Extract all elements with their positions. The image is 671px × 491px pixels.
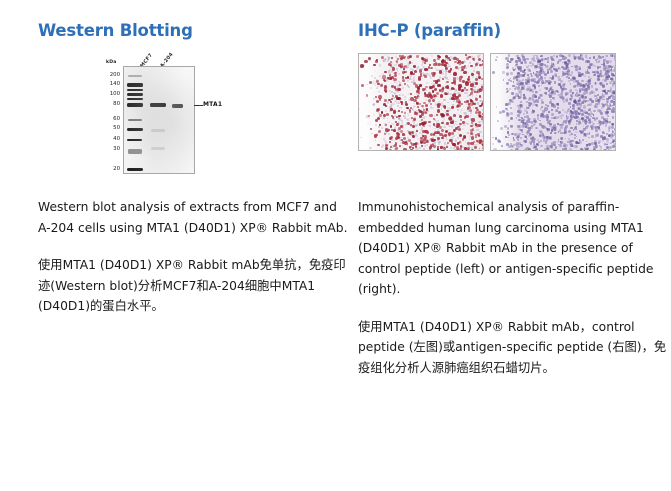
ihc-nucleus xyxy=(449,59,451,61)
ihc-nucleus xyxy=(612,116,615,119)
ihc-nucleus xyxy=(449,65,451,67)
ihc-nucleus xyxy=(453,124,455,126)
ihc-nucleus xyxy=(432,99,435,102)
ihc-nucleus xyxy=(531,121,534,124)
ihc-nucleus xyxy=(609,60,612,63)
ihc-nucleus xyxy=(482,147,484,149)
ladder-band xyxy=(127,89,143,91)
ihc-nucleus xyxy=(511,133,513,135)
ihc-nucleus xyxy=(501,145,503,147)
ihc-nucleus xyxy=(605,92,608,95)
ihc-nucleus xyxy=(586,57,588,59)
ihc-nucleus xyxy=(392,67,395,70)
ihc-nucleus xyxy=(401,111,403,113)
ihc-nucleus xyxy=(425,94,428,97)
ihc-nucleus xyxy=(375,124,377,126)
ihc-nucleus xyxy=(400,125,403,128)
mta1-leader-line xyxy=(194,105,203,106)
ihc-nucleus xyxy=(527,82,530,85)
ihc-nucleus xyxy=(370,128,372,130)
ihc-nucleus xyxy=(467,142,470,145)
ihc-nucleus xyxy=(441,108,443,110)
ihc-nucleus xyxy=(566,66,569,69)
ihc-nucleus xyxy=(482,88,484,91)
ihc-nucleus xyxy=(510,80,512,82)
ihc-nucleus xyxy=(585,148,588,151)
ihc-nucleus xyxy=(566,76,568,78)
ihc-nucleus xyxy=(376,88,377,89)
ihc-nucleus xyxy=(407,119,409,121)
ihc-nucleus xyxy=(458,128,461,131)
ihc-nucleus xyxy=(457,142,459,144)
ihc-nucleus xyxy=(376,109,379,112)
ihc-nucleus xyxy=(571,96,574,99)
ihc-nucleus xyxy=(393,129,396,132)
ihc-nucleus xyxy=(548,82,551,85)
ihc-nucleus xyxy=(561,137,563,139)
ihc-nucleus xyxy=(438,56,441,59)
ihc-nucleus xyxy=(456,58,459,61)
ihc-nucleus xyxy=(451,97,454,100)
ihc-nucleus xyxy=(394,72,397,75)
ihc-nucleus xyxy=(544,87,546,89)
ihc-nucleus xyxy=(453,72,457,76)
ihc-nucleus xyxy=(564,111,566,113)
ihc-nucleus xyxy=(416,55,419,58)
ihc-nucleus xyxy=(615,149,616,151)
ihc-nucleus xyxy=(591,113,593,115)
ihc-nucleus xyxy=(557,76,560,79)
ihc-nucleus xyxy=(541,58,544,61)
ihc-nucleus xyxy=(591,65,593,67)
ihc-nucleus xyxy=(505,103,508,106)
ihc-nucleus xyxy=(569,134,571,136)
ihc-nucleus xyxy=(369,81,372,84)
ihc-nucleus xyxy=(568,130,571,133)
ihc-nucleus xyxy=(558,111,561,114)
ihc-nucleus xyxy=(599,110,602,113)
ihc-nucleus xyxy=(422,130,425,133)
ihc-nucleus xyxy=(441,114,445,118)
ihc-nucleus xyxy=(471,73,474,76)
ihc-panel-antigen-specific-peptide xyxy=(490,53,616,151)
ihc-nucleus xyxy=(600,123,603,126)
ihc-nucleus xyxy=(523,113,525,115)
ihc-nucleus xyxy=(507,90,509,92)
ihc-nucleus xyxy=(559,150,562,151)
ihc-nucleus xyxy=(441,88,444,91)
caption-western-en: Western blot analysis of extracts from M… xyxy=(38,195,348,238)
ihc-nucleus xyxy=(533,124,535,126)
ihc-nucleus xyxy=(394,64,396,66)
ihc-nucleus xyxy=(368,115,370,117)
ihc-nucleus xyxy=(479,64,482,67)
ihc-nucleus xyxy=(424,62,426,64)
ihc-nucleus xyxy=(576,120,578,122)
ihc-nucleus xyxy=(518,68,521,71)
ihc-nucleus xyxy=(584,119,587,122)
ihc-nucleus xyxy=(508,79,510,81)
ihc-nucleus xyxy=(584,96,587,99)
ihc-nucleus xyxy=(595,126,598,129)
ihc-nucleus xyxy=(613,92,615,94)
ihc-nucleus xyxy=(482,109,484,111)
blot-marker-30: 30 xyxy=(106,147,120,152)
ihc-nucleus xyxy=(589,103,592,106)
ihc-nucleus xyxy=(429,114,433,118)
ihc-nucleus xyxy=(483,122,485,125)
ihc-nucleus xyxy=(482,113,484,116)
ihc-nucleus xyxy=(417,106,419,108)
ihc-nucleus xyxy=(530,143,532,145)
ihc-nucleus xyxy=(446,122,449,125)
ihc-nucleus xyxy=(613,69,616,72)
ihc-nucleus xyxy=(433,80,436,83)
ihc-nucleus xyxy=(513,150,516,151)
ihc-nucleus xyxy=(588,109,590,111)
ihc-nucleus xyxy=(532,57,535,60)
ihc-nucleus xyxy=(608,149,610,151)
figure-ihc-pair xyxy=(358,45,668,195)
ihc-nucleus xyxy=(419,84,422,87)
ihc-nucleus xyxy=(513,144,515,146)
ihc-nucleus xyxy=(540,67,542,69)
ihc-nucleus xyxy=(419,132,420,133)
ihc-nucleus xyxy=(540,76,543,79)
ihc-nucleus xyxy=(518,74,520,76)
ihc-nucleus xyxy=(587,80,590,83)
ladder-band xyxy=(127,139,142,141)
ihc-nucleus xyxy=(387,59,389,61)
ihc-nucleus xyxy=(419,147,421,149)
ihc-nucleus xyxy=(412,73,414,75)
ihc-nucleus xyxy=(537,66,539,68)
ihc-nucleus xyxy=(509,88,511,90)
ihc-nucleus xyxy=(390,64,392,66)
ihc-nucleus xyxy=(561,91,563,93)
blot-band-a204-mta1 xyxy=(172,104,183,108)
ihc-nucleus xyxy=(471,136,474,139)
ihc-nucleus xyxy=(403,137,406,140)
ihc-nucleus xyxy=(605,55,607,57)
ihc-nucleus xyxy=(407,113,409,115)
ihc-nucleus xyxy=(520,101,522,103)
ihc-nucleus xyxy=(472,58,474,60)
ihc-nucleus xyxy=(379,114,382,117)
ihc-nucleus xyxy=(467,147,470,150)
ihc-nucleus xyxy=(575,66,578,69)
ihc-nucleus xyxy=(515,93,518,96)
ihc-nucleus xyxy=(399,145,401,147)
ihc-nucleus xyxy=(446,139,448,141)
ihc-nucleus xyxy=(550,87,552,89)
ihc-nucleus xyxy=(402,141,405,144)
ihc-nucleus xyxy=(364,60,367,63)
ihc-nucleus xyxy=(572,104,575,107)
ihc-nucleus xyxy=(538,150,540,152)
ihc-nucleus xyxy=(577,56,580,59)
ihc-nucleus xyxy=(379,64,382,67)
ihc-nucleus xyxy=(479,115,482,118)
ihc-nucleus xyxy=(414,106,416,108)
ihc-nucleus xyxy=(463,124,465,126)
ihc-nucleus xyxy=(548,90,550,92)
ihc-nucleus xyxy=(476,71,479,74)
ihc-nucleus xyxy=(482,101,484,104)
ihc-nucleus xyxy=(389,141,391,143)
ihc-nucleus xyxy=(598,120,601,123)
ihc-nucleus xyxy=(599,145,601,147)
ihc-nucleus xyxy=(574,99,576,101)
ihc-nucleus xyxy=(593,56,596,59)
ihc-nucleus xyxy=(524,149,527,151)
ihc-nucleus xyxy=(595,98,597,100)
blot-marker-50: 50 xyxy=(106,126,120,131)
ihc-nucleus xyxy=(453,135,455,137)
blot-gel-panel xyxy=(123,66,195,174)
ihc-nucleus xyxy=(602,131,604,133)
ihc-nucleus xyxy=(391,129,393,131)
ihc-nucleus xyxy=(388,122,389,123)
ihc-nucleus xyxy=(614,129,616,131)
ihc-nucleus xyxy=(375,119,378,122)
blot-marker-60: 60 xyxy=(106,117,120,122)
ihc-nucleus xyxy=(404,96,406,98)
ihc-nucleus xyxy=(535,148,538,151)
ihc-nucleus xyxy=(405,101,407,103)
ihc-nucleus xyxy=(516,63,518,65)
blot-marker-20: 20 xyxy=(106,167,120,172)
ihc-nucleus xyxy=(483,146,484,148)
ihc-nucleus xyxy=(413,82,416,85)
ihc-nucleus xyxy=(493,148,496,151)
ihc-nucleus xyxy=(436,92,438,94)
ihc-nucleus xyxy=(360,137,361,138)
ihc-nucleus xyxy=(471,149,474,151)
ihc-nucleus xyxy=(605,111,607,113)
ihc-nucleus xyxy=(472,76,474,78)
ihc-nucleus xyxy=(613,54,616,57)
ihc-nucleus xyxy=(536,55,538,57)
ihc-nucleus xyxy=(389,149,393,151)
ladder-band xyxy=(127,93,143,96)
ihc-nucleus xyxy=(451,132,454,135)
ihc-nucleus xyxy=(466,89,468,91)
ihc-nucleus xyxy=(478,111,481,114)
ihc-nucleus xyxy=(445,72,447,74)
ihc-nucleus xyxy=(529,133,532,136)
ihc-nucleus xyxy=(612,83,614,85)
ihc-nucleus xyxy=(453,100,455,102)
ladder-band xyxy=(127,103,143,107)
ihc-nucleus xyxy=(551,142,554,145)
ihc-nucleus xyxy=(389,90,391,92)
ihc-nucleus xyxy=(420,75,422,77)
ihc-nucleus xyxy=(602,79,604,81)
ihc-panel-control-peptide xyxy=(358,53,484,151)
ihc-nucleus xyxy=(578,74,581,77)
caption-ihc-zh: 使用MTA1 (D40D1) XP® Rabbit mAb，control pe… xyxy=(358,300,668,379)
ihc-nucleus xyxy=(396,123,399,126)
ihc-nucleus xyxy=(551,109,553,111)
ihc-nucleus xyxy=(443,105,446,108)
blot-marker-80: 80 xyxy=(106,102,120,107)
blot-marker-200: 200 xyxy=(106,73,120,78)
ihc-nucleus xyxy=(601,97,603,99)
ihc-nucleus xyxy=(413,118,416,121)
ihc-nucleus xyxy=(524,116,526,118)
ihc-nucleus xyxy=(547,58,549,60)
ihc-nucleus xyxy=(540,131,543,134)
ihc-nucleus xyxy=(598,140,601,143)
ihc-nucleus xyxy=(416,135,418,137)
ladder-band xyxy=(128,119,142,121)
ihc-nucleus xyxy=(505,57,508,60)
page-root: Western Blotting kDa 200 140 100 80 60 5… xyxy=(0,0,671,491)
ihc-nucleus xyxy=(523,88,525,90)
ihc-nucleus xyxy=(588,119,590,121)
ihc-nucleus xyxy=(457,126,460,129)
ihc-nucleus xyxy=(574,56,577,59)
ihc-nucleus xyxy=(528,135,530,137)
ihc-nucleus xyxy=(602,56,604,58)
ihc-nucleus xyxy=(591,135,594,138)
ihc-nucleus xyxy=(457,109,459,111)
ihc-nucleus xyxy=(571,66,573,68)
ihc-nucleus xyxy=(594,65,596,67)
ihc-nucleus xyxy=(520,82,523,85)
ihc-nucleus xyxy=(541,101,544,104)
blot-band-mcf7-mta1 xyxy=(150,103,166,107)
ihc-nucleus xyxy=(591,128,593,130)
ihc-nucleus xyxy=(470,142,474,146)
ihc-nucleus xyxy=(600,72,602,74)
ihc-nucleus xyxy=(374,77,376,79)
ihc-nucleus xyxy=(569,148,572,151)
ihc-nucleus xyxy=(566,118,568,120)
ihc-nucleus xyxy=(593,149,595,151)
ihc-nucleus xyxy=(544,82,546,84)
ihc-nucleus xyxy=(394,74,397,77)
ihc-nucleus xyxy=(449,109,451,111)
ihc-nucleus xyxy=(393,103,395,105)
ihc-nucleus xyxy=(606,61,609,64)
ihc-nucleus xyxy=(360,64,364,68)
ihc-nucleus xyxy=(561,118,563,120)
ihc-nucleus xyxy=(579,83,582,86)
ihc-nucleus xyxy=(581,95,584,98)
ihc-nucleus xyxy=(398,73,400,75)
ihc-nucleus xyxy=(423,116,425,118)
ihc-nucleus xyxy=(546,147,549,150)
ihc-nucleus xyxy=(477,140,481,144)
blot-axis-unit: kDa xyxy=(106,60,117,65)
ihc-nucleus xyxy=(559,144,562,147)
ihc-nucleus xyxy=(483,96,484,98)
ihc-nucleus xyxy=(539,89,541,91)
ihc-nucleus xyxy=(570,143,573,146)
ihc-nucleus xyxy=(461,90,463,92)
ihc-nucleus xyxy=(539,70,542,73)
ihc-nucleus xyxy=(576,80,579,83)
ihc-nucleus xyxy=(568,102,571,105)
ihc-nucleus xyxy=(573,129,575,131)
ihc-nucleus xyxy=(511,101,514,104)
page-title-western-blotting: Western Blotting xyxy=(38,0,348,45)
ihc-nucleus xyxy=(403,148,407,151)
ihc-nucleus xyxy=(385,147,388,150)
ihc-nucleus xyxy=(595,129,598,132)
ihc-nucleus xyxy=(460,111,461,112)
ihc-nucleus xyxy=(479,148,481,150)
ihc-nucleus xyxy=(394,86,397,89)
ihc-nucleus xyxy=(411,131,414,134)
ihc-nucleus xyxy=(582,86,584,88)
ihc-nucleus xyxy=(540,145,543,148)
ihc-nucleus xyxy=(417,149,419,151)
ihc-nucleus xyxy=(573,77,576,80)
ihc-nucleus xyxy=(388,57,390,59)
ihc-nucleus xyxy=(576,128,578,130)
ihc-nucleus xyxy=(604,143,606,145)
ihc-nucleus xyxy=(409,132,411,134)
ihc-nucleus xyxy=(444,142,446,144)
ihc-nucleus xyxy=(387,101,390,104)
ihc-nucleus xyxy=(428,58,429,59)
ihc-nucleus xyxy=(610,142,612,144)
ihc-nucleus xyxy=(614,82,616,85)
ihc-nucleus xyxy=(445,74,447,76)
ihc-nucleus xyxy=(571,71,574,74)
ihc-nucleus xyxy=(460,119,462,121)
ihc-nucleus xyxy=(482,60,484,63)
ladder-band xyxy=(127,83,143,87)
ihc-nucleus xyxy=(384,58,386,60)
ihc-nucleus xyxy=(602,99,604,101)
ihc-nucleus xyxy=(553,127,556,130)
ihc-nucleus xyxy=(482,116,484,119)
ihc-nucleus xyxy=(393,92,394,93)
ladder-band xyxy=(127,168,143,171)
ihc-nucleus xyxy=(466,100,469,103)
column-western-blotting: Western Blotting kDa 200 140 100 80 60 5… xyxy=(38,0,348,317)
ihc-nucleus xyxy=(524,109,527,112)
ihc-nucleus xyxy=(529,150,532,151)
ihc-nucleus xyxy=(502,71,504,73)
ihc-nucleus xyxy=(583,105,586,108)
ihc-nucleus xyxy=(554,150,557,151)
ihc-nucleus xyxy=(530,73,532,75)
ihc-nucleus xyxy=(437,109,440,112)
ihc-nucleus xyxy=(582,139,584,141)
ihc-nucleus xyxy=(428,121,431,124)
ihc-nucleus xyxy=(552,75,554,77)
ihc-nucleus xyxy=(445,130,448,133)
ihc-nucleus xyxy=(382,75,386,79)
ihc-nucleus xyxy=(483,136,484,139)
ihc-nucleus xyxy=(547,71,550,74)
ihc-nucleus xyxy=(547,128,550,131)
ihc-nucleus xyxy=(544,107,547,110)
ihc-nucleus xyxy=(380,84,383,87)
ihc-nucleus xyxy=(374,134,378,138)
ihc-nucleus xyxy=(597,67,599,69)
ihc-nucleus xyxy=(393,110,396,113)
ladder-band xyxy=(128,149,142,154)
ihc-nucleus xyxy=(440,146,443,149)
ihc-nucleus xyxy=(589,57,591,59)
ihc-nucleus xyxy=(395,121,397,123)
